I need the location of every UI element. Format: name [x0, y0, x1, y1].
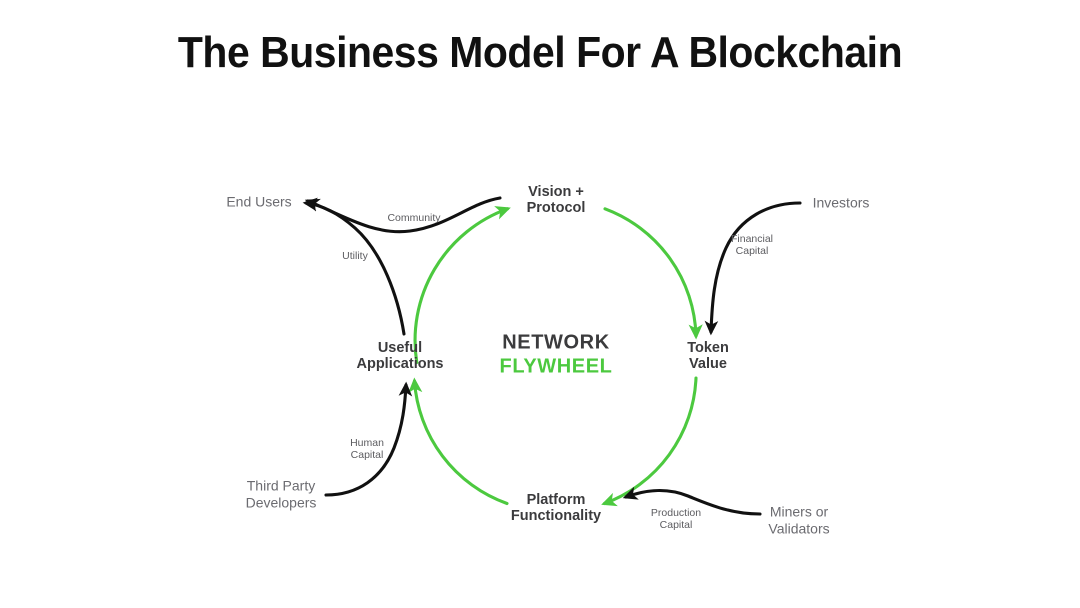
flow-financial-capital	[711, 203, 800, 332]
actor-third-party-developers: Third Party Developers	[246, 477, 317, 510]
node-token-value: Token Value	[687, 340, 729, 372]
flywheel-center-label: NETWORK FLYWHEEL	[500, 331, 613, 378]
edge-label-financial-capital: Financial Capital	[731, 233, 773, 257]
actor-end-users: End Users	[226, 194, 291, 211]
flywheel-arc-vision-to-token	[605, 209, 696, 336]
center-label-network: NETWORK	[500, 331, 613, 355]
node-useful-applications: Useful Applications	[356, 340, 443, 372]
edge-label-utility: Utility	[342, 250, 368, 262]
slide-canvas: The Business Model For A Blockchain	[0, 0, 1080, 608]
edge-label-human-capital: Human Capital	[350, 437, 384, 461]
edge-label-community: Community	[387, 212, 440, 224]
center-label-flywheel: FLYWHEEL	[500, 355, 613, 379]
node-platform-functionality: Platform Functionality	[511, 492, 601, 524]
flywheel-arc-token-to-platform	[605, 378, 697, 504]
actor-miners-or-validators: Miners or Validators	[768, 503, 829, 536]
actor-investors: Investors	[813, 195, 870, 212]
edge-label-production-capital: Production Capital	[651, 507, 701, 531]
node-vision-protocol: Vision + Protocol	[527, 184, 586, 216]
flywheel-arc-platform-to-apps	[415, 381, 508, 504]
